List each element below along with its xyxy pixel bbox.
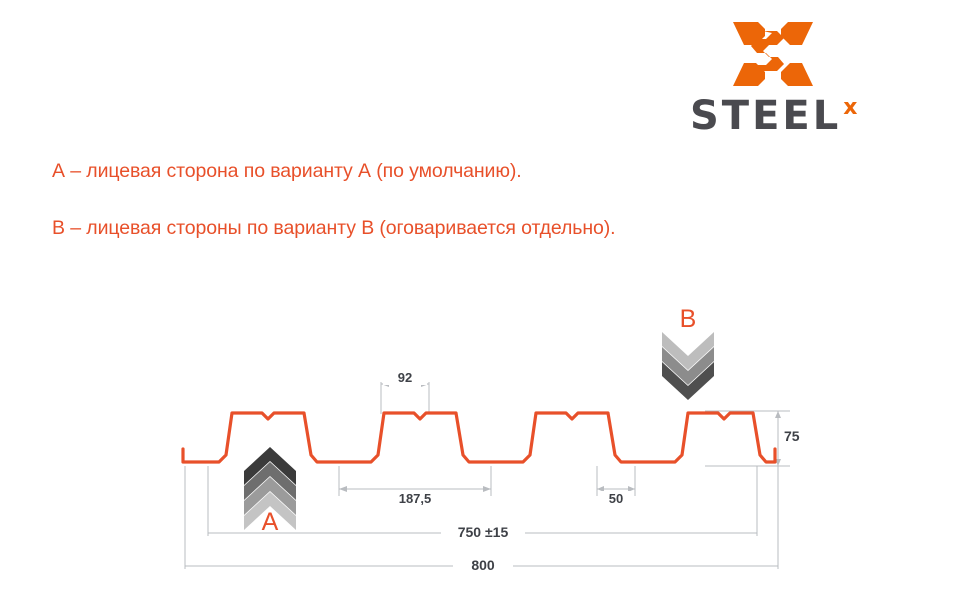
dimension-label-pitch: 187,5 [381, 491, 449, 506]
dimension-label-valley-width: 50 [598, 491, 634, 506]
dimension-arrowheads [339, 381, 781, 492]
dimension-label-total-width: 800 [455, 557, 511, 573]
dimension-label-crest-width: 92 [383, 370, 427, 385]
dimension-label-working-width: 750 ±15 [443, 524, 523, 540]
marker-b-label: В [668, 305, 708, 334]
profile-drawing [0, 0, 970, 597]
dimension-label-height: 75 [784, 428, 818, 444]
face-side-marker-b [662, 332, 714, 400]
marker-a-label: А [250, 508, 290, 537]
